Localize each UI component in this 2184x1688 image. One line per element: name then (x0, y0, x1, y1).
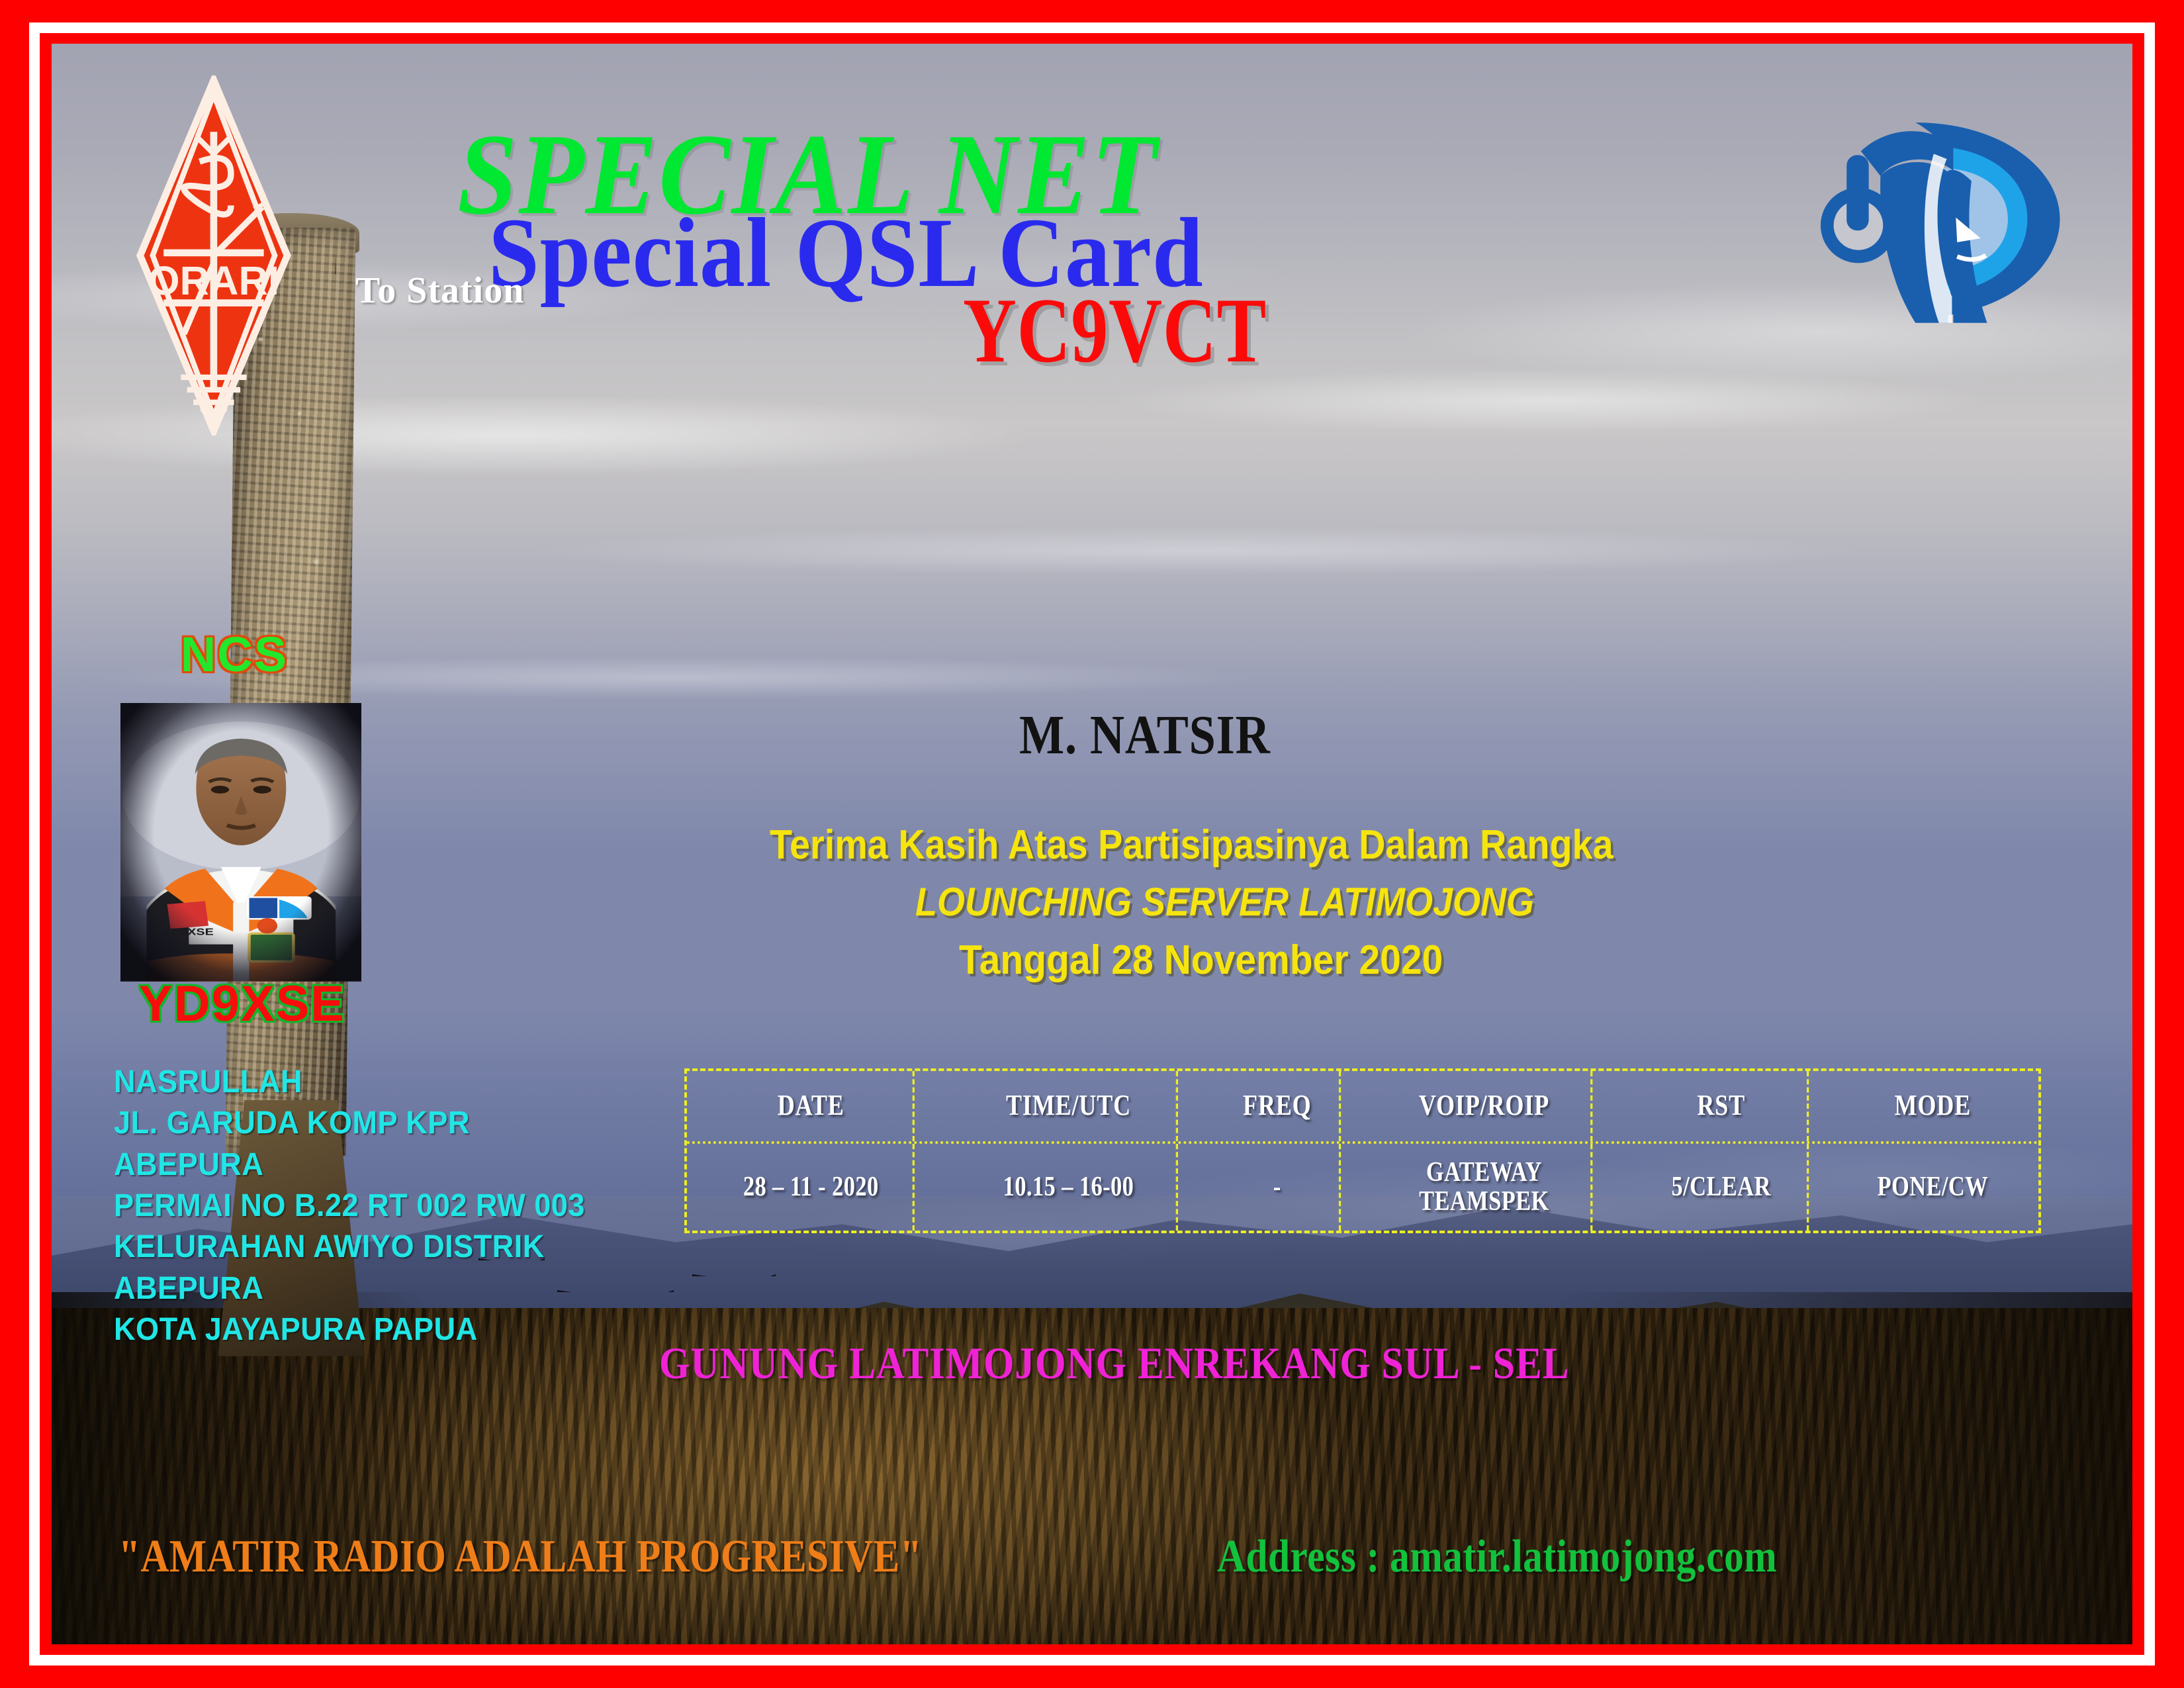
cell-freq: - (1215, 1144, 1340, 1231)
column-header-rst: RST (1635, 1071, 1808, 1141)
background-photograph: ORARI (52, 44, 2132, 1644)
event-line-2: LOUNCHING SERVER LATIMOJONG (915, 879, 1534, 925)
station-callsign: YC9VCT (963, 277, 1267, 384)
to-station-label: To Station (355, 269, 524, 312)
column-header-freq: FREQ (1215, 1071, 1340, 1141)
event-line-1: Terima Kasih Atas Partisipasinya Dalam R… (770, 821, 1614, 868)
address-line: ABEPURA (114, 1268, 585, 1309)
table-header-row: DATE TIME/UTC FREQ VOIP/ROIP RST MODE (687, 1071, 2038, 1144)
orari-logo-label: ORARI (148, 259, 279, 305)
operator-portrait-avatar: YD9XSE (120, 703, 362, 982)
ncs-callsign: YD9XSE (139, 975, 345, 1033)
qso-log-table: DATE TIME/UTC FREQ VOIP/ROIP RST MODE 28… (684, 1068, 2041, 1233)
address-line: KOTA JAYAPURA PAPUA (114, 1309, 585, 1350)
qsl-card: ORARI (0, 0, 2184, 1688)
address-line: PERMAI NO B.22 RT 002 RW 003 (114, 1186, 585, 1227)
address-line: JL. GARUDA KOMP KPR (114, 1103, 585, 1144)
ncs-role-label: NCS (181, 626, 288, 682)
column-header-date: DATE (709, 1071, 915, 1141)
mountain-location-caption: GUNUNG LATIMOJONG ENREKANG SUL - SEL (659, 1337, 1569, 1389)
cell-rst: 5/CLEAR (1635, 1144, 1808, 1231)
cell-mode: PONE/CW (1846, 1144, 2019, 1231)
cell-time-utc: 10.15 – 16-00 (961, 1144, 1178, 1231)
event-line-3: Tanggal 28 November 2020 (959, 937, 1443, 984)
orari-logo: ORARI (114, 75, 314, 436)
footer-web-address: Address : amatir.latimojong.com (1217, 1530, 1777, 1583)
column-header-time-utc: TIME/UTC (961, 1071, 1178, 1141)
operator-name: M. NATSIR (1019, 703, 1271, 767)
column-header-mode: MODE (1846, 1071, 2019, 1141)
column-header-voip-roip: VOIP/ROIP (1378, 1071, 1593, 1141)
table-row: 28 – 11 - 2020 10.15 – 16-00 - GATEWAY T… (687, 1144, 2038, 1231)
footer-motto: "AMATIR RADIO ADALAH PROGRESIVE" (118, 1530, 922, 1583)
address-line: ABEPURA (114, 1145, 585, 1186)
address-block: NASRULLAH JL. GARUDA KOMP KPR ABEPURA PE… (114, 1062, 585, 1351)
cell-date: 28 – 11 - 2020 (709, 1144, 915, 1231)
address-line: NASRULLAH (114, 1062, 585, 1103)
address-line: KELURAHAN AWIYO DISTRIK (114, 1227, 585, 1268)
headset-face-logo (1818, 79, 2078, 359)
cell-voip-roip: GATEWAY TEAMSPEK (1378, 1144, 1593, 1231)
